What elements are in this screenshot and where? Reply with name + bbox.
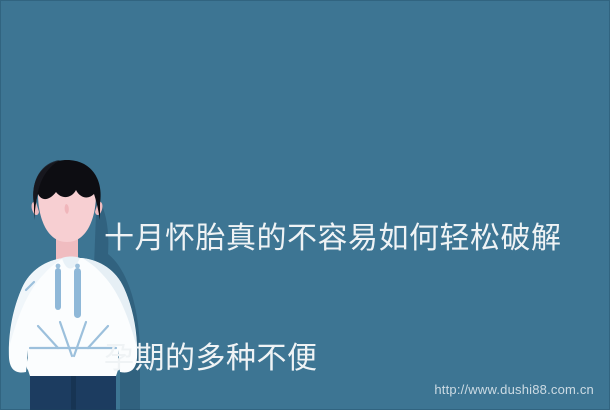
page-title-line-1: 十月怀胎真的不容易如何轻松破解 — [104, 219, 594, 259]
page-title: 十月怀胎真的不容易如何轻松破解 孕期的多种不便 — [104, 139, 594, 410]
watermark-url: http://www.dushi88.com.cn — [434, 382, 594, 397]
poster-canvas: 十月怀胎真的不容易如何轻松破解 孕期的多种不便 http://www.dushi… — [0, 0, 610, 410]
page-title-line-2: 孕期的多种不便 — [104, 339, 594, 379]
